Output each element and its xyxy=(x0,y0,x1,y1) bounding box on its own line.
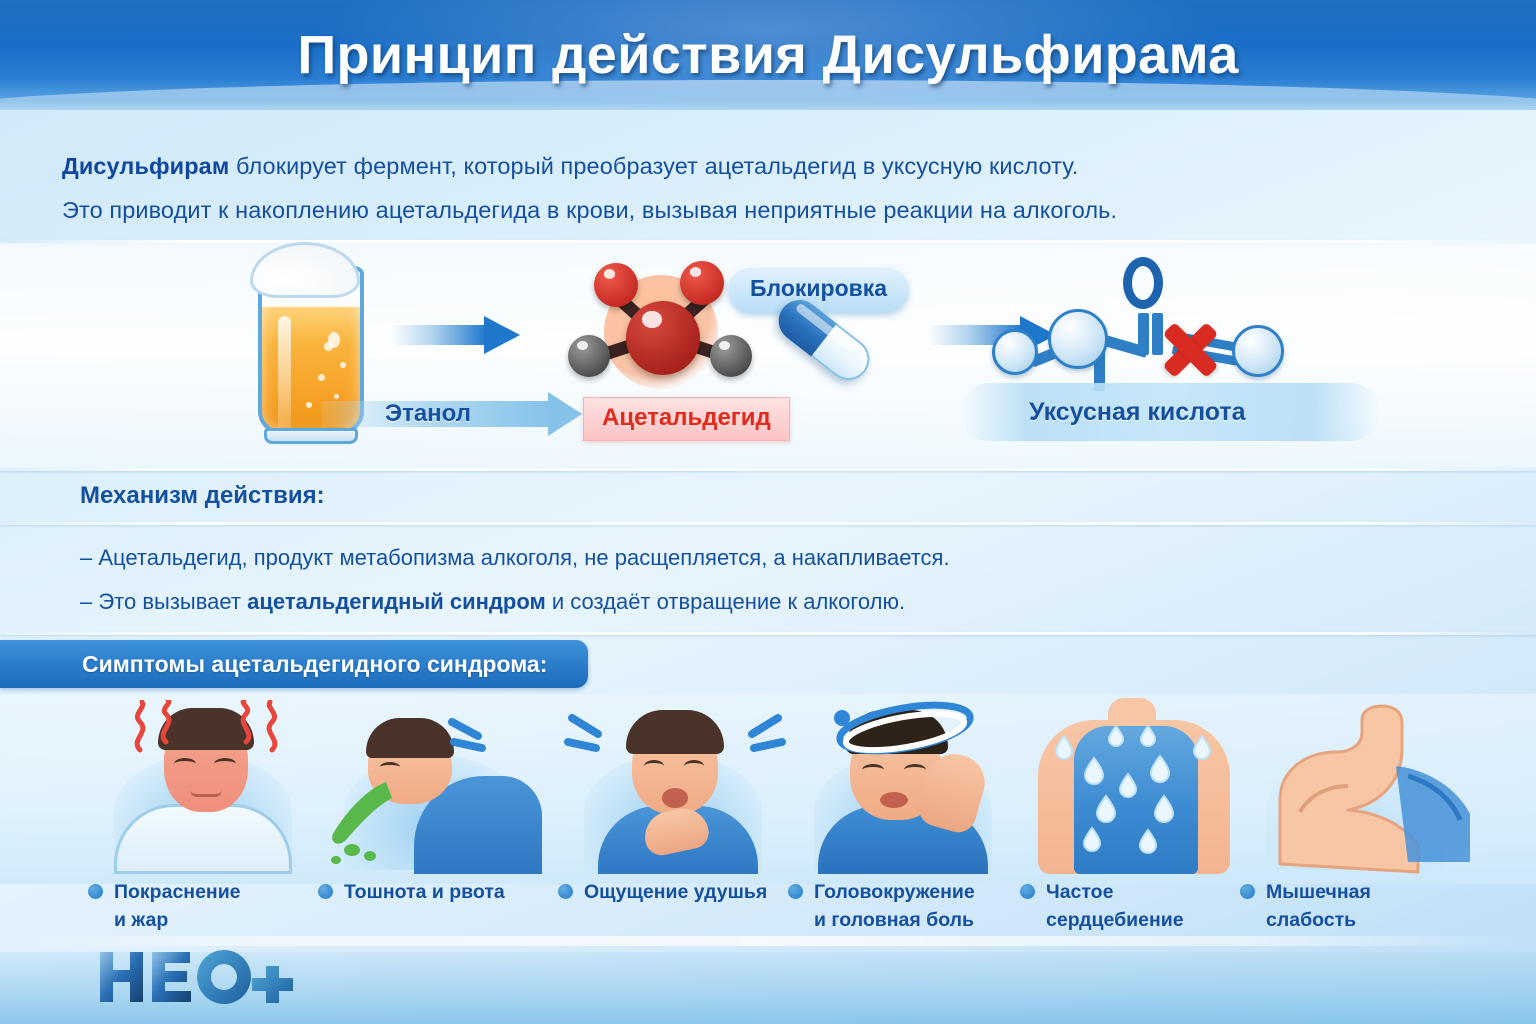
block-badge: Блокировка xyxy=(728,266,909,313)
bullet-dot-icon xyxy=(1240,884,1255,899)
dizziness-swirl-icon xyxy=(820,698,990,762)
symptom-item-2: Тошнота и рвота xyxy=(318,694,548,874)
brand-logo xyxy=(96,948,296,1006)
symptom-item-5: Частое сердцебиение xyxy=(1020,694,1250,874)
mechanism-list: – Ацетальдегид, продукт метабопизма алко… xyxy=(80,536,1380,624)
intro-line-2: Это приводит к накоплению ацетальдегида … xyxy=(62,188,1474,232)
oxygen-atom-icon xyxy=(594,263,638,307)
motion-lines-icon xyxy=(562,708,788,764)
vomit-icon xyxy=(326,776,436,866)
biceps-icon xyxy=(1240,704,1480,874)
sweating-torso-icon xyxy=(1020,694,1250,870)
symptom-item-6: Мышечная слабость xyxy=(1240,694,1470,874)
symptom-label-3: Ощущение удушья xyxy=(558,878,798,906)
symptoms-row: Покраснение и жар xyxy=(0,694,1536,944)
dizzy-headache-icon xyxy=(788,694,1018,870)
blocked-x-icon xyxy=(1152,311,1228,387)
symptoms-banner: Симптомы ацетальдегидного синдрома: xyxy=(0,640,588,688)
vomiting-person-icon xyxy=(318,694,548,870)
mechanism-section: Механизм действия: – Ацетальдегид, проду… xyxy=(0,474,1536,632)
divider-symptoms xyxy=(0,632,1536,635)
bullet-dot-icon xyxy=(788,884,803,899)
symptom-item-1: Покраснение и жар xyxy=(88,694,318,874)
intro-drug-name: Дисульфирам xyxy=(62,153,229,179)
choking-person-icon xyxy=(558,694,788,870)
oxygen-atom-icon-2 xyxy=(680,261,724,305)
intro-block: Дисульфирам блокирует фермент, который п… xyxy=(0,126,1536,238)
bullet-dot-icon xyxy=(318,884,333,899)
bullet-dot-icon xyxy=(88,884,103,899)
hydrogen-atom-icon xyxy=(568,335,610,377)
poster-header: Принцип действия Дисульфирама xyxy=(0,0,1536,110)
symptom-label-1: Покраснение и жар xyxy=(88,878,328,934)
sweat-drops-icon xyxy=(1042,724,1232,872)
divider-mechanism xyxy=(0,522,1536,525)
acid-node-3 xyxy=(1232,325,1284,377)
symptom-label-2: Тошнота и рвота xyxy=(318,878,558,906)
acetic-acid-label: Уксусная кислота xyxy=(1029,398,1246,427)
mechanism-item-2-bold: ацетальдегидный синдром xyxy=(247,589,546,614)
symptom-item-4: Головокружение и головная боль xyxy=(788,694,1018,874)
bullet-dot-icon xyxy=(1020,884,1035,899)
mechanism-item-2: – Это вызывает ацетальдегидный синдром и… xyxy=(80,580,1380,624)
hydrogen-atom-icon-2 xyxy=(710,335,752,377)
heat-waves-icon xyxy=(128,700,288,760)
page-title: Принцип действия Дисульфирама xyxy=(0,0,1536,110)
mechanism-title: Механизм действия: xyxy=(80,482,325,510)
arrow-right-icon-1 xyxy=(392,316,520,354)
flexed-arm-icon xyxy=(1240,694,1470,870)
motion-lines-icon xyxy=(448,716,508,768)
neo-plus-logo-icon xyxy=(96,948,296,1006)
symptoms-banner-label: Симптомы ацетальдегидного синдрома: xyxy=(0,640,588,688)
acetic-acid-molecule-icon xyxy=(986,251,1286,401)
symptom-label-6: Мышечная слабость xyxy=(1240,878,1480,934)
symptom-item-3: Ощущение удушья xyxy=(558,694,788,874)
infographic-poster: Принцип действия Дисульфирама Дисульфира… xyxy=(0,0,1536,1024)
acid-node-2 xyxy=(1048,309,1108,369)
intro-line-1-rest: блокирует фермент, который преобразует а… xyxy=(229,153,1078,179)
symptom-label-4: Головокружение и головная боль xyxy=(788,878,1028,934)
acetaldehyde-label: Ацетальдегид xyxy=(583,397,790,441)
bullet-dot-icon xyxy=(558,884,573,899)
carbon-atom-icon xyxy=(626,301,700,375)
ethanol-label: Этанол xyxy=(385,400,471,428)
flushed-face-icon xyxy=(88,694,318,870)
symptom-label-5: Частое сердцебиение xyxy=(1020,878,1260,934)
reaction-diagram: Этанол Ацетальдегид Блокировка xyxy=(0,243,1536,468)
oxygen-ring-icon xyxy=(1123,257,1163,309)
mechanism-item-1: – Ацетальдегид, продукт метабопизма алко… xyxy=(80,536,1380,580)
divider-reaction xyxy=(0,468,1536,471)
acid-node-1 xyxy=(992,329,1038,375)
intro-line-1: Дисульфирам блокирует фермент, который п… xyxy=(62,144,1474,188)
